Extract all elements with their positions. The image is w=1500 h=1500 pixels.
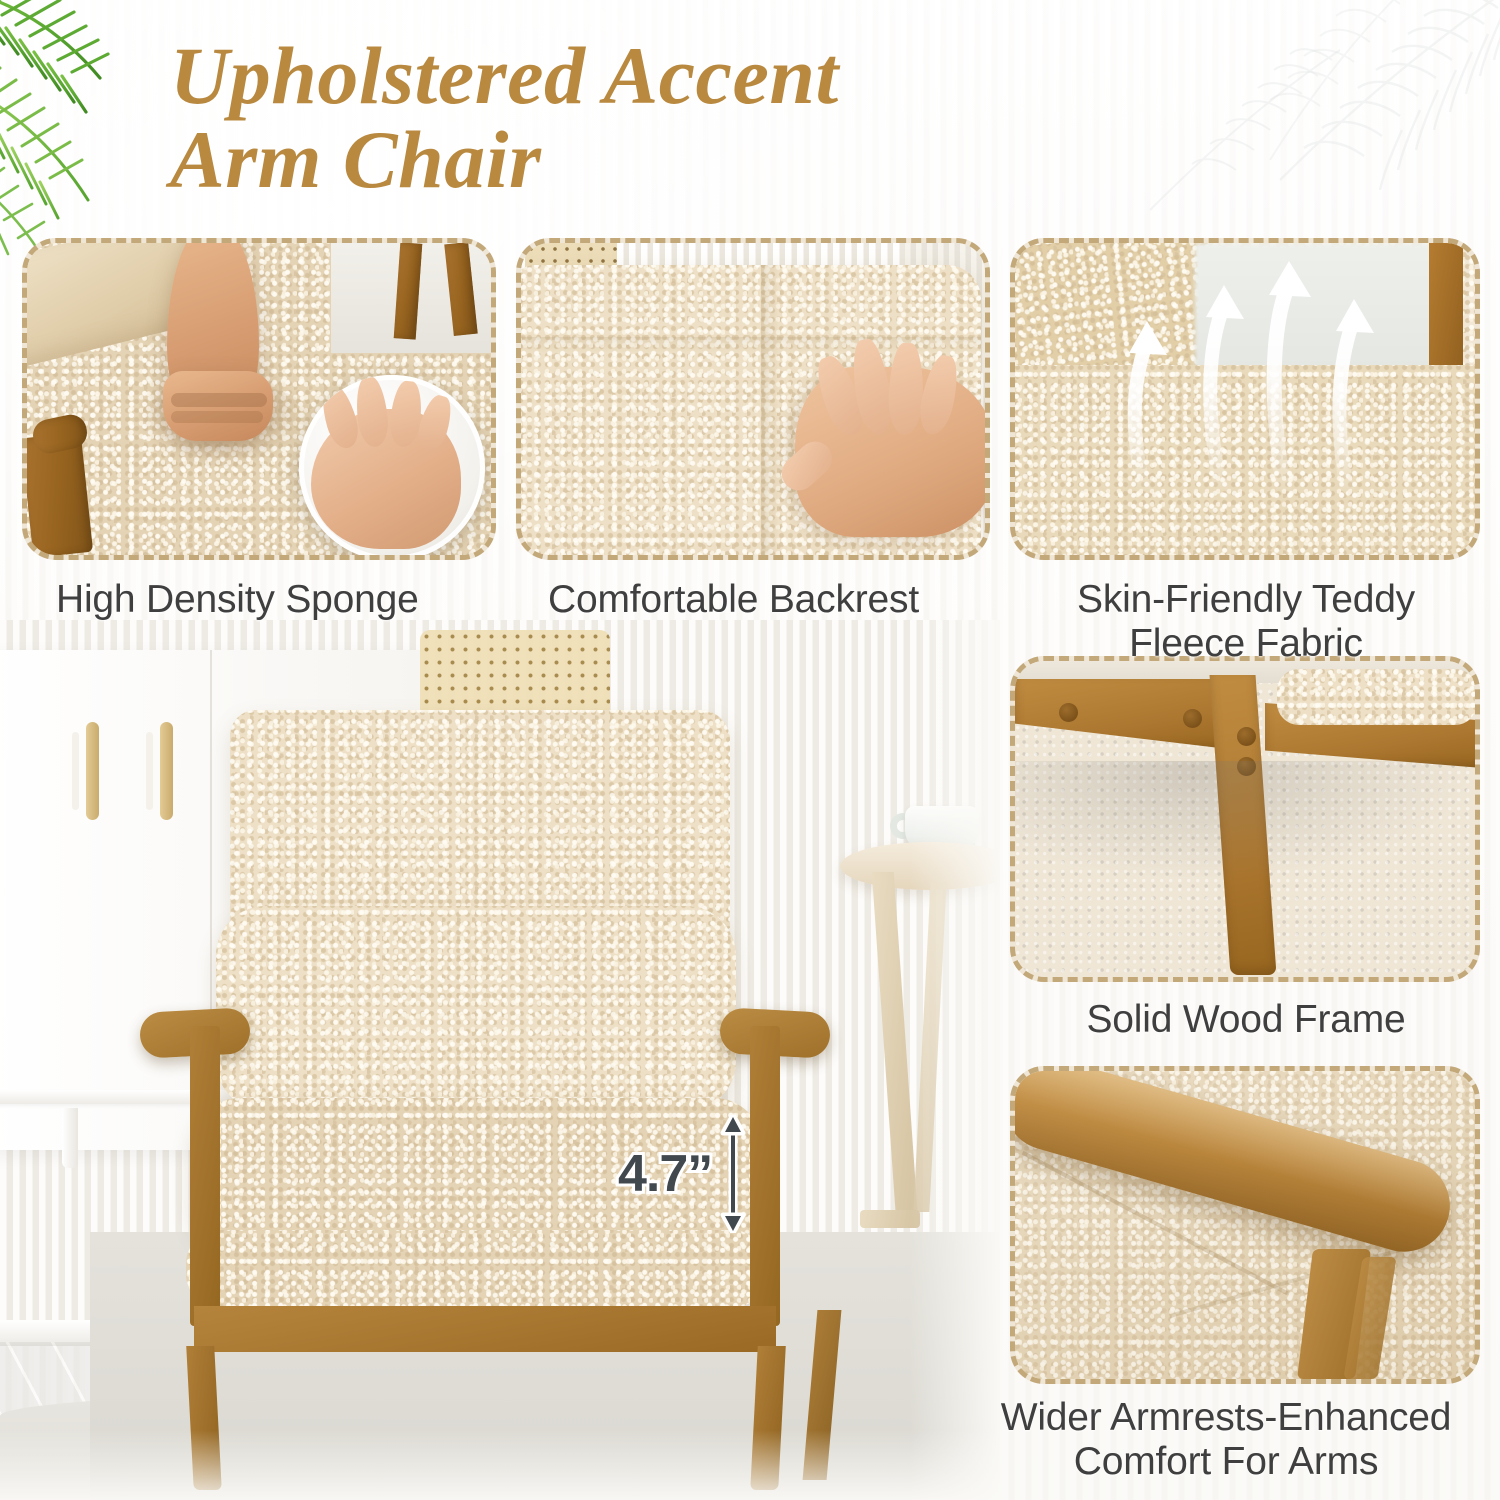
up-arrow-icon-3 bbox=[1255, 255, 1325, 495]
up-arrow-icon-4 bbox=[1320, 291, 1390, 496]
chair-leg-front-right bbox=[750, 1346, 786, 1490]
caption-comfortable-backrest: Comfortable Backrest bbox=[548, 578, 988, 622]
caption-high-density-sponge: High Density Sponge bbox=[56, 578, 486, 622]
accent-arm-chair bbox=[150, 710, 830, 1490]
cabinet-handle-left[interactable] bbox=[86, 722, 99, 820]
feature-panel-teddy-fleece-fabric bbox=[1010, 238, 1480, 560]
photo-backrest-press bbox=[521, 243, 985, 555]
caption-text: High Density Sponge bbox=[56, 578, 419, 621]
chair-leg-front-left bbox=[186, 1346, 222, 1490]
double-arrow-vertical-icon bbox=[720, 1115, 746, 1233]
product-infographic: Upholstered Accent Arm Chair bbox=[0, 0, 1500, 1500]
cabinet-foot bbox=[62, 1108, 78, 1168]
page-title: Upholstered Accent Arm Chair bbox=[170, 34, 1160, 203]
photo-wood-frame-joint bbox=[1015, 661, 1475, 977]
dimension-value: 4.7” bbox=[618, 1144, 712, 1204]
chair-base-cushion bbox=[186, 1230, 766, 1308]
feature-panel-wider-armrests bbox=[1010, 1066, 1480, 1384]
caption-text: Solid Wood Frame bbox=[1086, 998, 1405, 1041]
title-line-2: Arm Chair bbox=[170, 118, 1160, 202]
caption-wider-armrests: Wider Armrests-Enhanced Comfort For Arms bbox=[962, 1396, 1490, 1485]
caption-text-line-2: Comfort For Arms bbox=[962, 1440, 1490, 1484]
feature-panel-solid-wood-frame bbox=[1010, 656, 1480, 982]
photo-sponge-press bbox=[27, 243, 491, 555]
photo-breathable-fabric bbox=[1015, 243, 1475, 555]
feature-panel-high-density-sponge bbox=[22, 238, 496, 560]
chair-post-left bbox=[190, 1026, 220, 1326]
up-arrow-icon-1 bbox=[1115, 315, 1185, 495]
cabinet-handle-stem-left bbox=[72, 732, 79, 810]
caption-text: Wider Armrests-Enhanced bbox=[1001, 1396, 1452, 1439]
chair-lumbar-cushion bbox=[216, 906, 736, 1111]
caption-teddy-fleece-fabric: Skin-Friendly Teddy Fleece Fabric bbox=[1006, 578, 1486, 667]
chair-front-apron bbox=[194, 1306, 776, 1352]
hero-room-photo bbox=[0, 620, 1000, 1500]
caption-text-line-2: Fleece Fabric bbox=[1006, 622, 1486, 666]
caption-text: Skin-Friendly Teddy bbox=[1077, 578, 1415, 621]
caption-text: Comfortable Backrest bbox=[548, 578, 919, 621]
photo-wooden-armrest bbox=[1015, 1071, 1475, 1379]
magnified-inset-circle bbox=[299, 375, 485, 555]
side-table-foot bbox=[860, 1210, 920, 1228]
title-line-1: Upholstered Accent bbox=[170, 30, 839, 121]
up-arrow-icon-2 bbox=[1190, 279, 1260, 494]
dimension-callout-seat-thickness: 4.7” bbox=[618, 1115, 746, 1233]
feature-panel-comfortable-backrest bbox=[516, 238, 990, 560]
caption-solid-wood-frame: Solid Wood Frame bbox=[1006, 998, 1486, 1042]
chair-post-right bbox=[750, 1026, 780, 1326]
